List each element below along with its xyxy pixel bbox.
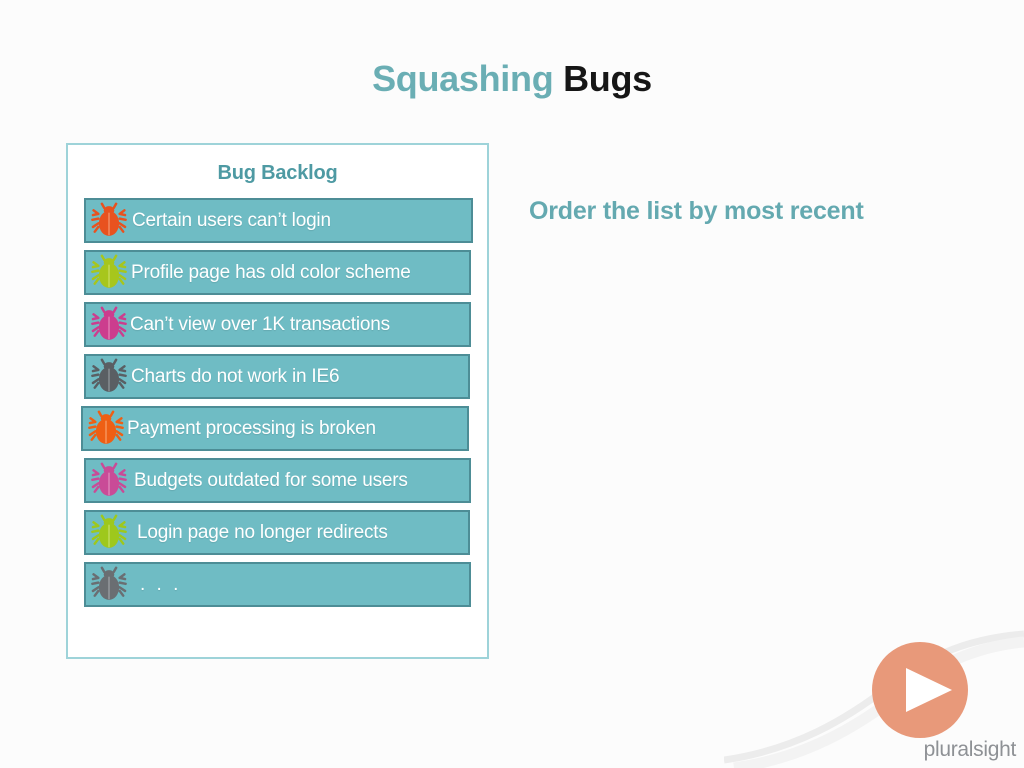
bug-icon bbox=[90, 566, 128, 604]
page-title: Squashing Bugs bbox=[0, 58, 1024, 100]
bug-icon bbox=[90, 254, 128, 292]
bug-label: Charts do not work in IE6 bbox=[131, 366, 339, 388]
bug-icon bbox=[90, 306, 128, 344]
list-item[interactable]: Login page no longer redirects bbox=[84, 510, 470, 555]
bug-icon bbox=[90, 514, 128, 552]
brand-mark: pluralsight bbox=[724, 628, 1024, 768]
list-item[interactable]: . . . bbox=[84, 562, 471, 607]
list-item[interactable]: Profile page has old color scheme bbox=[84, 250, 471, 295]
callout-text: Order the list by most recent bbox=[529, 190, 874, 233]
bug-label: Payment processing is broken bbox=[127, 418, 376, 440]
brand-wordmark: pluralsight bbox=[924, 738, 1016, 762]
bug-label: Can’t view over 1K transactions bbox=[130, 314, 390, 336]
list-item[interactable]: Charts do not work in IE6 bbox=[84, 354, 470, 399]
bug-label: Certain users can’t login bbox=[132, 210, 331, 232]
list-item[interactable]: Certain users can’t login bbox=[84, 198, 473, 243]
bug-backlog-panel: Bug Backlog Certain users can’t login bbox=[66, 143, 489, 659]
bug-list: Certain users can’t login Profile page h… bbox=[68, 198, 487, 607]
bug-icon bbox=[90, 358, 128, 396]
bug-label: Login page no longer redirects bbox=[137, 522, 388, 544]
page-title-emphasis: Squashing bbox=[372, 58, 553, 99]
bug-icon bbox=[90, 202, 128, 240]
bug-icon bbox=[90, 462, 128, 500]
page-title-subject: Bugs bbox=[563, 58, 652, 99]
bug-icon bbox=[87, 410, 125, 448]
list-item[interactable]: Payment processing is broken bbox=[81, 406, 469, 451]
bug-label: Budgets outdated for some users bbox=[134, 470, 408, 492]
list-item[interactable]: Budgets outdated for some users bbox=[84, 458, 471, 503]
backlog-heading: Bug Backlog bbox=[68, 162, 487, 185]
bug-label: . . . bbox=[140, 574, 181, 596]
list-item[interactable]: Can’t view over 1K transactions bbox=[84, 302, 471, 347]
bug-label: Profile page has old color scheme bbox=[131, 262, 411, 284]
